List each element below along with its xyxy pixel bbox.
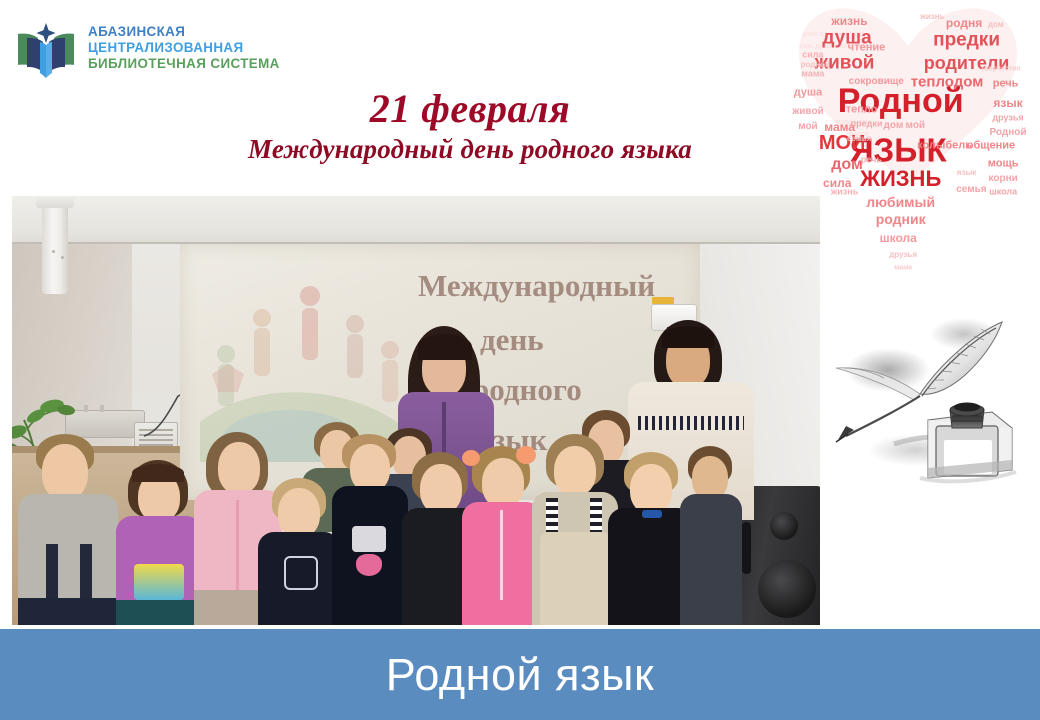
heart-word: мой [798, 122, 818, 132]
event-date-title: 21 февраля [160, 88, 780, 130]
logo-line-1: АБАЗИНСКАЯ [88, 24, 280, 40]
heart-word: мой [906, 121, 926, 131]
heart-word: ЖИЗНЬ [860, 168, 941, 190]
heart-word: язык [957, 169, 976, 177]
event-name-subtitle: Международный день родного языка [160, 134, 780, 165]
heart-word: душа [794, 88, 823, 99]
heart-word: друзья [889, 251, 917, 259]
child-5 [332, 434, 408, 625]
heart-word: любимый [866, 195, 935, 209]
heart-word: мама [801, 70, 824, 79]
screen-line-1: Международный [418, 268, 655, 304]
heart-word: дом [883, 121, 903, 131]
heart-word: друзья [992, 113, 1023, 122]
pillar-screw [52, 250, 55, 253]
quill-pen-and-inkwell-sketch [824, 318, 1038, 504]
child-1 [18, 434, 118, 625]
speaker-woofer [758, 560, 816, 618]
group-photo-children-library-event: Международный день родного язык [12, 196, 820, 625]
heart-word: родник [876, 212, 926, 226]
heart-word: жизнь [831, 188, 858, 197]
heart-word: семья [847, 135, 871, 143]
heart-word: школа [989, 188, 1017, 197]
heart-word: тепло [846, 105, 878, 116]
photo-ceiling [12, 196, 820, 244]
child-7 [462, 446, 542, 625]
open-book-with-star-logo [14, 17, 78, 79]
heart-word: язык [993, 97, 1022, 109]
heart-word: сокровище [849, 77, 904, 87]
heart-word: семья [956, 185, 986, 195]
heart-word-cloud: родной язык мой дом жизнь душа тепло сем… [786, 2, 1030, 192]
wall-box-bolt [100, 405, 104, 412]
heart-word: живой [792, 107, 824, 117]
logo-line-2: ЦЕНТРАЛИЗОВАННАЯ [88, 40, 280, 56]
heart-word: речь [993, 78, 1019, 89]
heart-word: предки [851, 119, 883, 128]
slide-root: АБАЗИНСКАЯ ЦЕНТРАЛИЗОВАННАЯ БИБЛИОТЕЧНАЯ… [0, 0, 1040, 720]
title-block: 21 февраля Международный день родного яз… [160, 88, 780, 165]
ceiling-pillar [42, 196, 68, 294]
heart-word-list: РоднойЯЗЫКМОИЖИЗНЬдушаживойпредкиродител… [786, 2, 1030, 192]
library-logo: АБАЗИНСКАЯ ЦЕНТРАЛИЗОВАННАЯ БИБЛИОТЕЧНАЯ… [14, 14, 284, 82]
speaker-handle [742, 522, 751, 574]
child-8 [532, 434, 618, 625]
pillar-screw [61, 256, 64, 259]
header: АБАЗИНСКАЯ ЦЕНТРАЛИЗОВАННАЯ БИБЛИОТЕЧНАЯ… [0, 0, 1040, 196]
heart-word: чтение [848, 42, 885, 53]
heart-word: жизнь [920, 13, 944, 21]
logo-line-3: БИБЛИОТЕЧНАЯ СИСТЕМА [88, 56, 280, 72]
heart-word: речь [861, 155, 882, 164]
heart-word: мама [894, 265, 912, 272]
banner-title: Родной язык [386, 649, 654, 701]
heart-word: родной [801, 61, 830, 69]
heart-word: дом [831, 157, 863, 173]
heart-word: сила [802, 51, 823, 60]
heart-word: предки [933, 31, 1000, 50]
child-10 [680, 446, 742, 625]
heart-word: Родной [990, 128, 1027, 138]
heart-word: теплодом [911, 74, 984, 89]
heart-word: корни [989, 174, 1018, 184]
heart-word: мощь [988, 158, 1019, 169]
heart-word: творчество [981, 65, 1021, 72]
wall-box-bolt [84, 405, 88, 412]
ceiling-pillar-cap [36, 196, 74, 208]
speaker-tweeter [770, 512, 798, 540]
heart-word: жизнь [831, 15, 867, 27]
heart-word: дом [988, 21, 1004, 29]
socket-label [652, 297, 674, 304]
bottom-banner: Родной язык [0, 629, 1040, 720]
heart-word: общение [967, 141, 1015, 152]
heart-word: школа [880, 232, 917, 244]
child-2 [116, 460, 202, 625]
child-4 [258, 478, 340, 625]
heart-word: родня [946, 17, 982, 29]
heart-word: колыбель [917, 141, 972, 152]
